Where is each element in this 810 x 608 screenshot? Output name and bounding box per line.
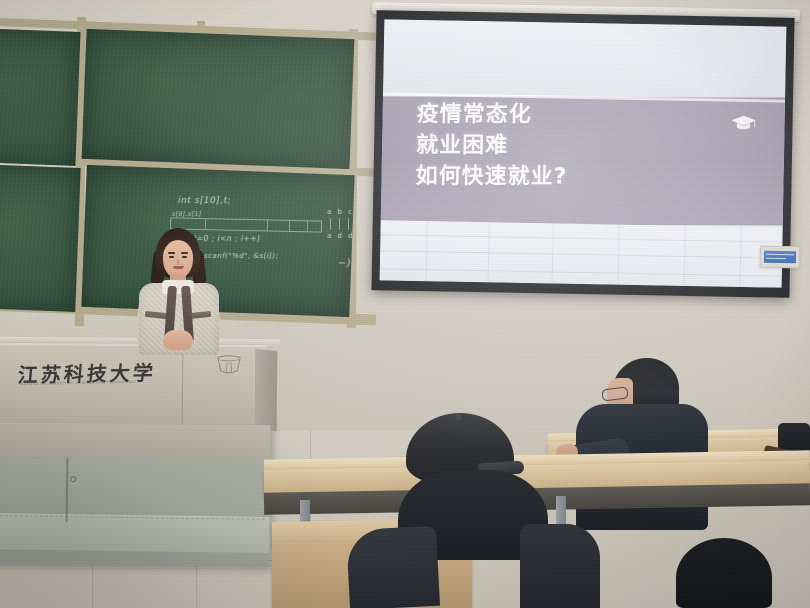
slide-line-1: 疫情常态化 bbox=[417, 99, 569, 131]
presenter-face bbox=[163, 240, 193, 278]
slide-floor-area bbox=[380, 220, 783, 287]
slide-text-block: 疫情常态化 就业困难 如何快速就业? bbox=[415, 99, 569, 193]
projected-slide: 疫情常态化 就业困难 如何快速就业? bbox=[380, 19, 787, 287]
chalk-line-6: a d d bbox=[327, 232, 355, 240]
projection-screen: 疫情常态化 就业困难 如何快速就业? bbox=[371, 10, 794, 298]
slide-line-3: 如何快速就业? bbox=[415, 162, 567, 194]
student-jacket bbox=[356, 520, 592, 608]
presenter-hands bbox=[163, 330, 193, 350]
student-foreground-right bbox=[676, 538, 772, 608]
podium-lower-panel bbox=[0, 423, 270, 459]
cap-button bbox=[455, 414, 462, 420]
podium-side-panel bbox=[255, 349, 278, 432]
cabinet-lock[interactable] bbox=[70, 476, 76, 482]
slide-line-2: 就业困难 bbox=[416, 131, 568, 163]
graduation-cap-icon bbox=[730, 113, 756, 133]
university-crest-icon bbox=[214, 352, 244, 378]
blue-wall-sign bbox=[760, 246, 800, 269]
chalk-line-5: a b c bbox=[327, 208, 354, 216]
classroom-photo: int s[10],t; s[0],s[1] for( i=0 ; i<n ; … bbox=[0, 0, 810, 608]
chalk-line-4: scanf("%d", &s[i]); bbox=[204, 252, 279, 260]
chalk-line-1: int s[10],t; bbox=[178, 196, 231, 206]
